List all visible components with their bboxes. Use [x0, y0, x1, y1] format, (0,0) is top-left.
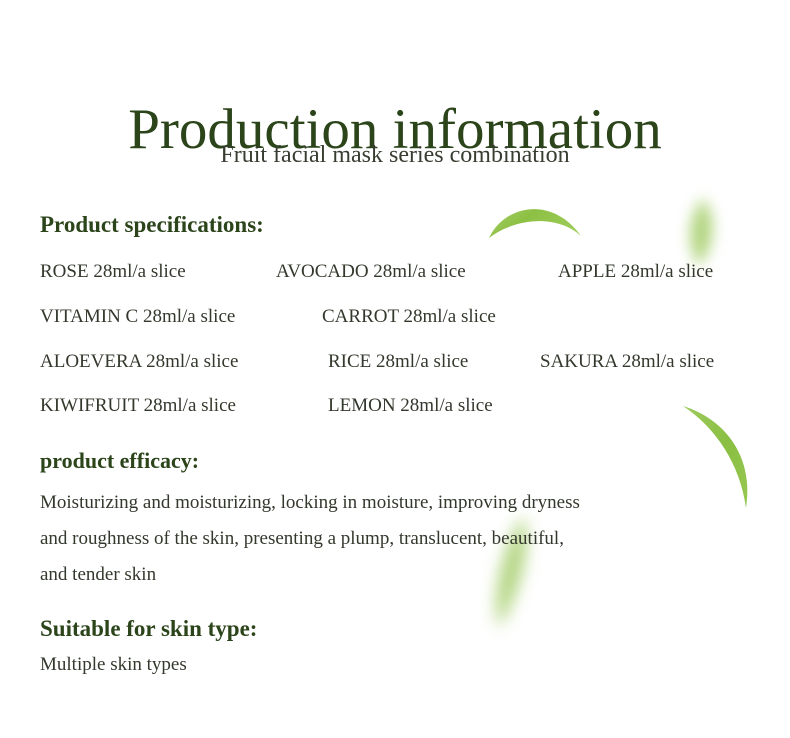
- efficacy-line: and tender skin: [40, 557, 756, 593]
- page-subtitle: Fruit facial mask series combination: [0, 141, 790, 170]
- spec-item: VITAMIN C 28ml/a slice: [40, 305, 235, 329]
- spec-item: APPLE 28ml/a slice: [558, 260, 713, 284]
- spec-row: KIWIFRUIT 28ml/a slice LEMON 28ml/a slic…: [40, 394, 770, 418]
- leaf-icon-top-blurred: [672, 196, 728, 268]
- spec-item: ROSE 28ml/a slice: [40, 260, 186, 284]
- spec-item: AVOCADO 28ml/a slice: [276, 260, 466, 284]
- product-information-page: Production information Fruit facial mask…: [0, 0, 790, 738]
- skin-type-description: Multiple skin types: [40, 652, 187, 678]
- spec-item: RICE 28ml/a slice: [328, 350, 468, 374]
- spec-row: ALOEVERA 28ml/a slice RICE 28ml/a slice …: [40, 350, 770, 374]
- spec-row: VITAMIN C 28ml/a slice CARROT 28ml/a sli…: [40, 305, 770, 329]
- section-heading-skin-type: Suitable for skin type:: [40, 615, 257, 643]
- spec-item: SAKURA 28ml/a slice: [540, 350, 714, 374]
- efficacy-line: Moisturizing and moisturizing, locking i…: [40, 485, 756, 521]
- leaf-icon-top-arc: [487, 198, 583, 244]
- spec-item: KIWIFRUIT 28ml/a slice: [40, 394, 236, 418]
- spec-item: ALOEVERA 28ml/a slice: [40, 350, 238, 374]
- spec-row: ROSE 28ml/a slice AVOCADO 28ml/a slice A…: [40, 260, 770, 284]
- section-heading-efficacy: product efficacy:: [40, 448, 199, 474]
- efficacy-line: and roughness of the skin, presenting a …: [40, 521, 756, 557]
- spec-item: LEMON 28ml/a slice: [328, 394, 493, 418]
- section-heading-specifications: Product specifications:: [40, 211, 264, 239]
- efficacy-description: Moisturizing and moisturizing, locking i…: [40, 485, 756, 593]
- spec-item: CARROT 28ml/a slice: [322, 305, 496, 329]
